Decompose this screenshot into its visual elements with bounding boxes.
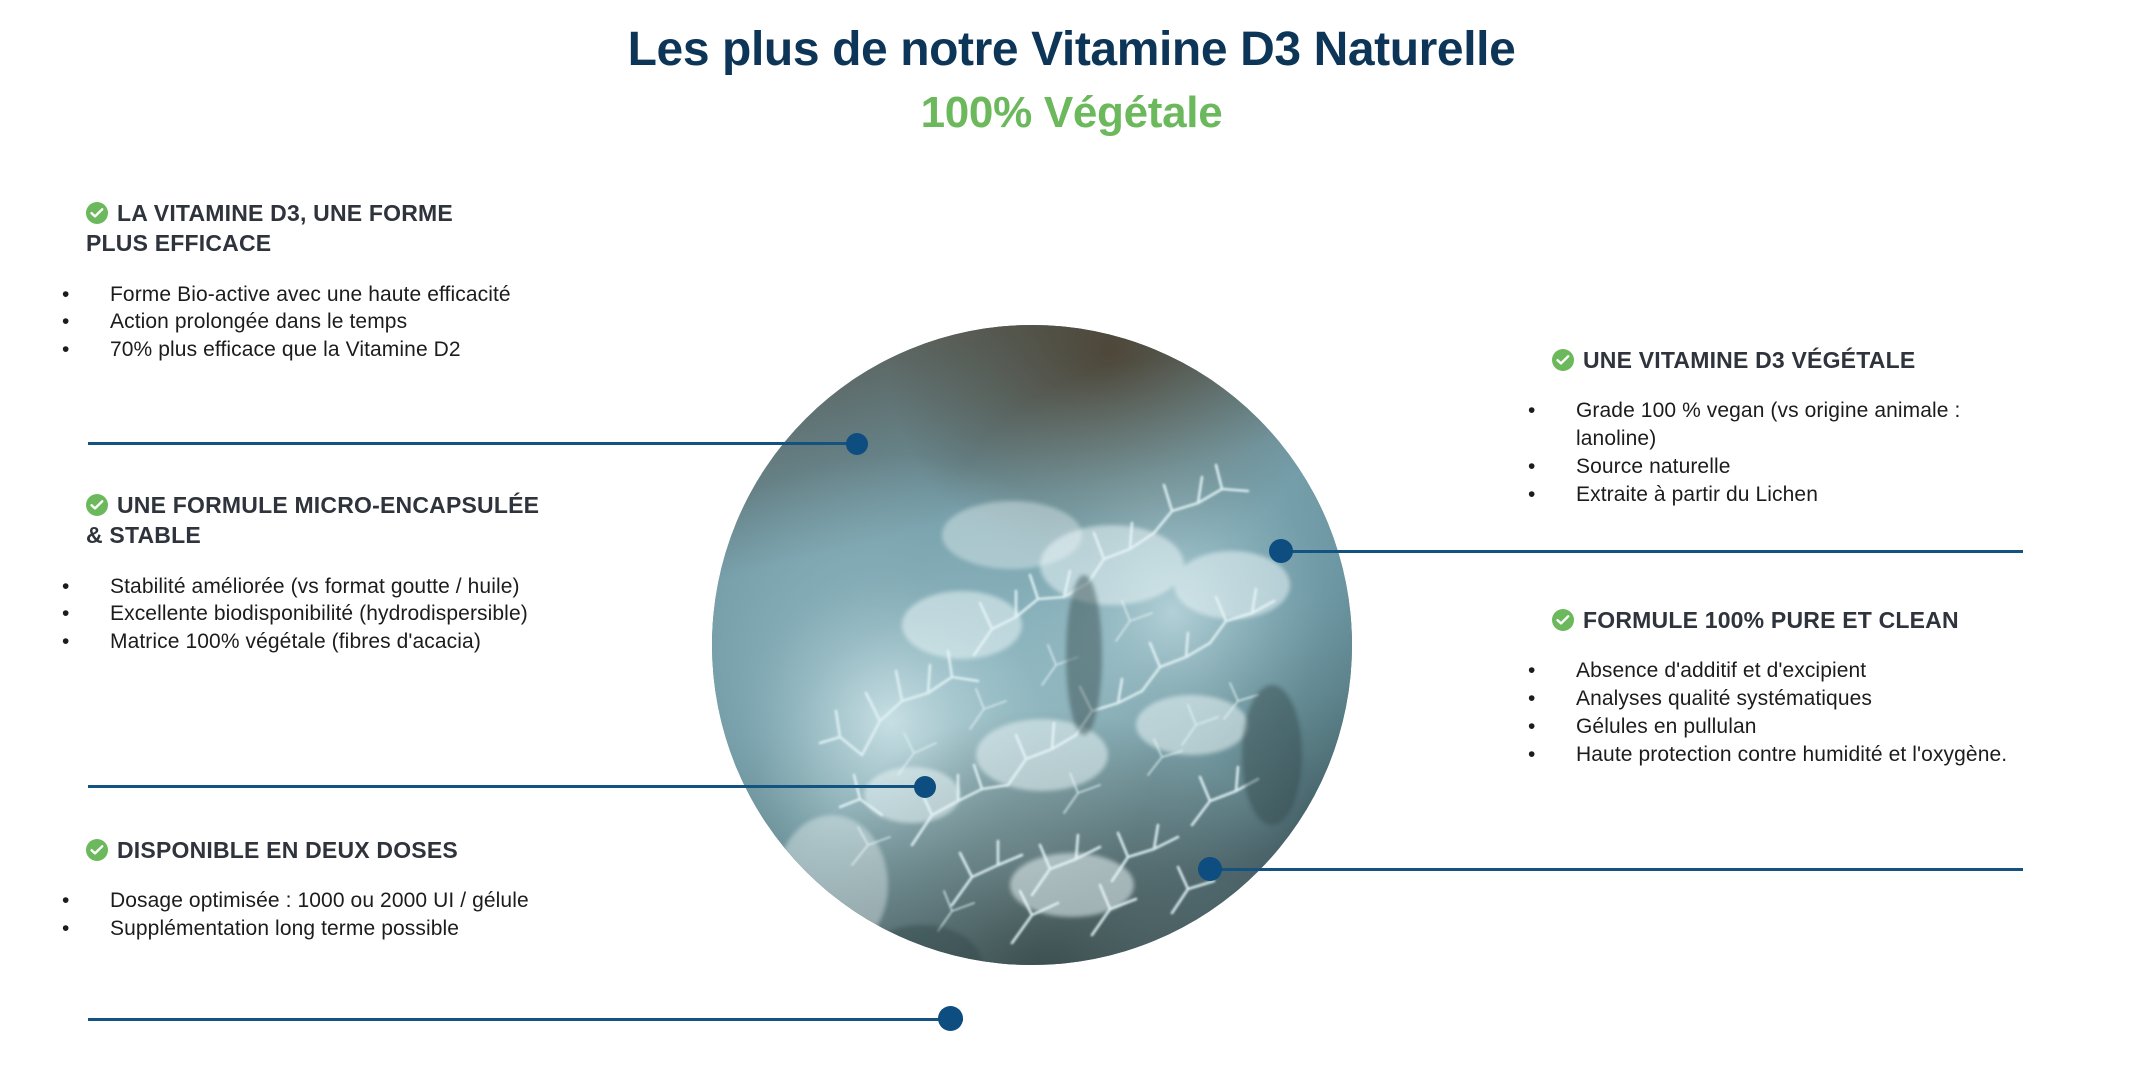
bullet-glyph: • — [1552, 397, 1566, 425]
feature-heading: UNE VITAMINE D3 VÉGÉTALE — [1552, 345, 2002, 375]
list-item-text: Grade 100 % vegan (vs origine animale : … — [1576, 399, 1960, 450]
bullet-glyph: • — [86, 600, 100, 628]
list-item-text: 70% plus efficace que la Vitamine D2 — [110, 338, 461, 361]
list-item: •Extraite à partir du Lichen — [1552, 481, 2002, 509]
list-item-text: Analyses qualité systématiques — [1576, 687, 1872, 710]
list-item: •Action prolongée dans le temps — [86, 308, 516, 336]
list-item-text: Source naturelle — [1576, 455, 1731, 478]
bullet-glyph: • — [1552, 657, 1566, 685]
bullet-glyph: • — [1552, 713, 1566, 741]
feature-block-formule-pure-clean: FORMULE 100% PURE ET CLEAN •Absence d'ad… — [1552, 605, 2012, 768]
bullet-glyph: • — [86, 281, 100, 309]
feature-heading: FORMULE 100% PURE ET CLEAN — [1552, 605, 2012, 635]
check-circle-icon — [86, 839, 108, 861]
list-item: •70% plus efficace que la Vitamine D2 — [86, 336, 516, 364]
connector-line-left-2 — [88, 785, 928, 788]
list-item-text: Dosage optimisée : 1000 ou 2000 UI / gél… — [110, 889, 529, 912]
feature-heading-text: FORMULE 100% PURE ET CLEAN — [1583, 607, 1959, 633]
list-item: •Excellente biodisponibilité (hydrodispe… — [86, 600, 546, 628]
bullet-glyph: • — [86, 336, 100, 364]
feature-heading-text: UNE VITAMINE D3 VÉGÉTALE — [1583, 347, 1915, 373]
feature-block-formule-micro-encapsulee: UNE FORMULE MICRO-ENCAPSULÉE & STABLE •S… — [86, 490, 546, 656]
feature-bullet-list: •Forme Bio-active avec une haute efficac… — [86, 281, 516, 364]
feature-heading-text: UNE FORMULE MICRO-ENCAPSULÉE & STABLE — [86, 492, 539, 548]
check-circle-icon — [86, 202, 108, 224]
bullet-glyph: • — [86, 628, 100, 656]
list-item: •Gélules en pullulan — [1552, 713, 2012, 741]
connector-dot-left-1 — [846, 433, 868, 455]
check-circle-icon — [86, 494, 108, 516]
connector-line-right-2 — [1215, 868, 2023, 871]
feature-bullet-list: •Absence d'additif et d'excipient •Analy… — [1552, 657, 2012, 768]
feature-heading: DISPONIBLE EN DEUX DOSES — [86, 835, 536, 865]
bullet-glyph: • — [86, 308, 100, 336]
bullet-glyph: • — [86, 573, 100, 601]
connector-dot-right-2 — [1198, 857, 1222, 881]
bullet-glyph: • — [1552, 685, 1566, 713]
connector-line-left-3 — [88, 1018, 963, 1021]
bullet-glyph: • — [1552, 453, 1566, 481]
list-item-text: Absence d'additif et d'excipient — [1576, 659, 1866, 682]
list-item-text: Haute protection contre humidité et l'ox… — [1576, 743, 2007, 766]
list-item: •Grade 100 % vegan (vs origine animale :… — [1552, 397, 2002, 452]
bullet-glyph: • — [1552, 741, 1566, 769]
feature-heading: UNE FORMULE MICRO-ENCAPSULÉE & STABLE — [86, 490, 546, 551]
list-item: •Stabilité améliorée (vs format goutte /… — [86, 573, 546, 601]
list-item: •Matrice 100% végétale (fibres d'acacia) — [86, 628, 546, 656]
list-item-text: Supplémentation long terme possible — [110, 917, 459, 940]
check-circle-icon — [1552, 609, 1574, 631]
list-item: •Source naturelle — [1552, 453, 2002, 481]
feature-block-vitamine-d3-vegetale: UNE VITAMINE D3 VÉGÉTALE •Grade 100 % ve… — [1552, 345, 2002, 508]
bullet-glyph: • — [86, 915, 100, 943]
list-item: •Forme Bio-active avec une haute efficac… — [86, 281, 516, 309]
connector-dot-left-3 — [938, 1006, 963, 1031]
list-item: •Supplémentation long terme possible — [86, 915, 536, 943]
bullet-glyph: • — [86, 887, 100, 915]
list-item-text: Forme Bio-active avec une haute efficaci… — [110, 283, 511, 306]
list-item-text: Extraite à partir du Lichen — [1576, 483, 1818, 506]
feature-bullet-list: •Dosage optimisée : 1000 ou 2000 UI / gé… — [86, 887, 536, 942]
feature-bullet-list: •Grade 100 % vegan (vs origine animale :… — [1552, 397, 2002, 508]
feature-heading-text: LA VITAMINE D3, UNE FORME PLUS EFFICACE — [86, 200, 453, 256]
list-item: •Dosage optimisée : 1000 ou 2000 UI / gé… — [86, 887, 536, 915]
feature-block-vitamine-d3-forme-efficace: LA VITAMINE D3, UNE FORME PLUS EFFICACE … — [86, 198, 516, 364]
feature-block-disponible-deux-doses: DISPONIBLE EN DEUX DOSES •Dosage optimis… — [86, 835, 536, 943]
check-circle-icon — [1552, 349, 1574, 371]
feature-heading-text: DISPONIBLE EN DEUX DOSES — [117, 837, 458, 863]
connector-line-right-1 — [1280, 550, 2023, 553]
list-item-text: Matrice 100% végétale (fibres d'acacia) — [110, 630, 481, 653]
page-title: Les plus de notre Vitamine D3 Naturelle — [0, 22, 2143, 79]
list-item-text: Gélules en pullulan — [1576, 715, 1757, 738]
list-item: •Haute protection contre humidité et l'o… — [1552, 741, 2012, 769]
list-item-text: Action prolongée dans le temps — [110, 310, 407, 333]
feature-heading: LA VITAMINE D3, UNE FORME PLUS EFFICACE — [86, 198, 516, 259]
connector-dot-left-2 — [914, 776, 936, 798]
bullet-glyph: • — [1552, 481, 1566, 509]
list-item-text: Excellente biodisponibilité (hydrodisper… — [110, 602, 528, 625]
list-item-text: Stabilité améliorée (vs format goutte / … — [110, 575, 520, 598]
list-item: •Absence d'additif et d'excipient — [1552, 657, 2012, 685]
list-item: •Analyses qualité systématiques — [1552, 685, 2012, 713]
connector-line-left-1 — [88, 442, 853, 445]
connector-dot-right-1 — [1269, 539, 1293, 563]
feature-bullet-list: •Stabilité améliorée (vs format goutte /… — [86, 573, 546, 656]
page-subtitle: 100% Végétale — [0, 85, 2143, 140]
page-header: Les plus de notre Vitamine D3 Naturelle … — [0, 22, 2143, 140]
